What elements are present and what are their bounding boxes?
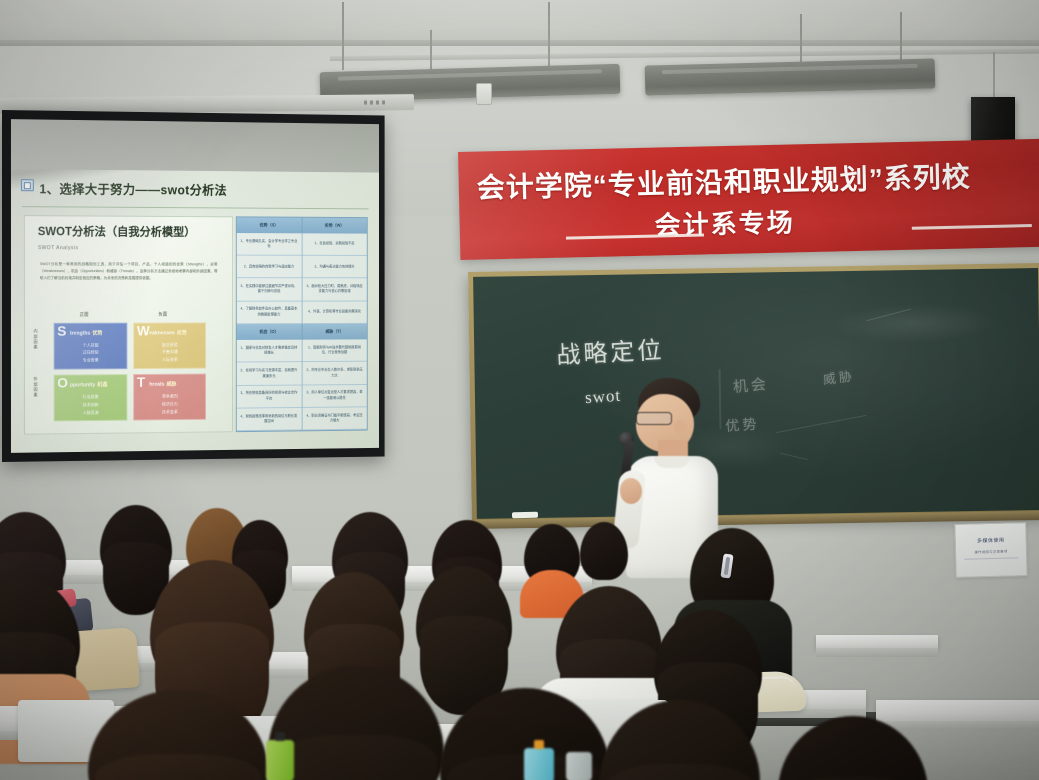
student-mid-4 bbox=[416, 566, 512, 674]
list-item: 人脉资源 bbox=[54, 408, 128, 417]
table-row: 1、社会经验、实践经验不足 bbox=[302, 233, 366, 256]
wall-notice: 多媒体使用 操作说明与注意事项 bbox=[954, 522, 1027, 578]
quadrant-label-opportunity: pportunity机遇 bbox=[70, 381, 107, 388]
table-row: 3、所在院校具备良好的师资与校企合作平台 bbox=[236, 385, 301, 408]
quadrant-label-strengths: trengths优势 bbox=[70, 329, 103, 336]
student-front-2 bbox=[268, 666, 444, 780]
student-hair bbox=[600, 700, 760, 780]
table-column-strengths: 1、专业基础扎实，会计学专业学之专业化 2、具有较强的自我学习与适应能力 3、在… bbox=[236, 233, 302, 324]
light-rod-right-b bbox=[900, 12, 902, 64]
table-row: 1、智能财务与AI技术替代基础核算岗位，行业竞争加剧 bbox=[302, 340, 366, 363]
blue-bottle[interactable] bbox=[524, 748, 554, 780]
slide-title: 1、选择大于努力——swot分析法 bbox=[39, 178, 227, 198]
slide-bullet-icon bbox=[21, 179, 34, 191]
swot-matrix: S trengths优势 个人技能 过往经验 专业背景 W bbox=[54, 322, 207, 421]
banner-line-2: 会计系专场 bbox=[459, 198, 990, 247]
student-back-8 bbox=[580, 522, 628, 580]
quadrant-letter-w: W bbox=[137, 323, 150, 337]
light-rod-left-c bbox=[548, 2, 550, 74]
list-item: 人际关系 bbox=[133, 356, 206, 364]
student-hair bbox=[150, 560, 274, 694]
table-row: 4、财税政策改革带来新的岗位与职业发展空间 bbox=[236, 408, 301, 431]
student-hair bbox=[268, 666, 444, 780]
quadrant-letter-t: T bbox=[137, 375, 145, 389]
list-item: 专业背景 bbox=[54, 357, 128, 365]
student-front-4 bbox=[600, 700, 760, 780]
table-row: 3、用人单位对复合型人才要求提高，单一技能难以胜任 bbox=[302, 385, 366, 408]
swot-description: SWOT分析是一种常用的战略规划工具，用于评估一个项目、产品、个人或组织的优势（… bbox=[40, 261, 218, 281]
presenter-ear bbox=[674, 420, 686, 435]
student-mid-5 bbox=[556, 586, 662, 702]
projection-screen: 1、选择大于努力——swot分析法 SWOT分析法（自我分析模型） SWOT A… bbox=[2, 110, 385, 462]
swot-quadrant-weaknesses: W eaknesses劣势 缺乏经验 不善沟通 人际关系 bbox=[133, 322, 206, 369]
student-back-7 bbox=[524, 524, 580, 586]
swot-axis-positive: 正面 bbox=[80, 312, 89, 318]
chalk-text-strategy: 战略定位 bbox=[555, 330, 665, 370]
quadrant-letter-o: O bbox=[57, 375, 68, 389]
quadrant-cn-s: 优势 bbox=[92, 330, 102, 336]
light-rod-left-a bbox=[342, 2, 344, 70]
quadrant-cn-t: 威胁 bbox=[166, 382, 176, 388]
screen-top-band bbox=[11, 119, 379, 173]
table-header-row-2: 机会（O） 威胁（T） bbox=[236, 324, 366, 340]
swot-quadrant-opportunity: O pportunity机遇 行业前景 技术创新 人脉资源 bbox=[54, 374, 128, 422]
quadrant-label-weaknesses: eaknesses劣势 bbox=[149, 329, 186, 336]
table-column-threats: 1、智能财务与AI技术替代基础核算岗位，行业竞争加剧 2、同专业毕业生人数众多，… bbox=[302, 340, 366, 431]
table-body-1: 1、专业基础扎实，会计学专业学之专业化 2、具有较强的自我学习与适应能力 3、在… bbox=[236, 233, 366, 324]
table-column-weaknesses: 1、社会经验、实践经验不足 2、沟通与表达能力有待提升 3、面对较大压力时，易焦… bbox=[302, 233, 366, 324]
notice-divider bbox=[964, 557, 1018, 559]
table-row: 4、了解财务软件及办公软件，具备基本的数据处理能力 bbox=[236, 301, 301, 324]
chalk-text-opportunity: 机会 bbox=[732, 373, 770, 397]
event-banner: 会计学院“专业前沿和职业规划”系列校 会计系专场 bbox=[458, 138, 1039, 260]
presenter-hand bbox=[620, 478, 642, 504]
table-row: 1、专业基础扎实，会计学专业学之专业化 bbox=[236, 233, 301, 256]
chalk-text-threat: 威胁 bbox=[822, 365, 856, 388]
housing-vents-icon bbox=[364, 100, 386, 104]
table-row: 2、同专业毕业生人数众多，求职竞争压力大 bbox=[302, 362, 366, 385]
swot-axis-internal: 内部因素 bbox=[33, 329, 39, 350]
presentation-slide: 1、选择大于努力——swot分析法 SWOT分析法（自我分析模型） SWOT A… bbox=[11, 169, 379, 453]
swot-quadrant-strengths: S trengths优势 个人技能 过往经验 专业背景 bbox=[54, 322, 128, 369]
table-row: 3、在实践中能够注重细节并严谨对待，善于归纳与总结 bbox=[236, 279, 301, 302]
table-body-2: 1、国家与社会对财会人才需求稳定且持续增长 2、在线学习与实习资源丰富，自我提升… bbox=[236, 340, 366, 432]
wall-switch-plate[interactable] bbox=[476, 83, 492, 105]
swot-axis-external: 外部因素 bbox=[33, 377, 39, 398]
student-hair bbox=[88, 690, 268, 780]
speaker-mount-rod bbox=[993, 52, 995, 98]
slide-title-divider bbox=[22, 206, 368, 209]
column-header: 劣势（W） bbox=[302, 217, 366, 233]
swot-heading: SWOT分析法（自我分析模型） bbox=[38, 223, 196, 240]
quadrant-items-o: 行业前景 技术创新 人脉资源 bbox=[54, 393, 128, 417]
student-front-1 bbox=[88, 690, 268, 780]
table-header-row-1: 优势（S） 劣势（W） bbox=[236, 217, 366, 234]
quadrant-cn-o: 机遇 bbox=[97, 382, 107, 388]
quadrant-word-t: hreats bbox=[149, 382, 164, 388]
table-row: 4、职业资格证书门槛不断提高，考证压力增大 bbox=[302, 407, 366, 430]
blackboard-surface: 战略定位 swot 机会 威胁 优势 bbox=[473, 268, 1039, 519]
table-row: 1、国家与社会对财会人才需求稳定且持续增长 bbox=[236, 340, 301, 363]
notice-title: 多媒体使用 bbox=[956, 536, 1026, 545]
student-hair bbox=[778, 716, 928, 780]
quadrant-label-threats: hreats威胁 bbox=[149, 381, 176, 388]
student-hair bbox=[416, 566, 512, 674]
column-header: 机会（O） bbox=[236, 324, 302, 340]
column-header: 优势（S） bbox=[236, 217, 302, 233]
projection-screen-surface: 1、选择大于努力——swot分析法 SWOT分析法（自我分析模型） SWOT A… bbox=[11, 119, 379, 453]
quadrant-items-s: 个人技能 过往经验 专业背景 bbox=[54, 341, 128, 365]
swot-axis-negative: 负面 bbox=[158, 311, 167, 317]
quadrant-cn-w: 劣势 bbox=[177, 330, 187, 336]
table-row: 3、面对较大压力时，易焦虑，对临场应变能力与信心仍需加强 bbox=[302, 279, 366, 302]
student-front-5 bbox=[778, 716, 928, 780]
blackboard: 战略定位 swot 机会 威胁 优势 bbox=[468, 263, 1039, 524]
table-row: 2、具有较强的自我学习与适应能力 bbox=[236, 256, 301, 279]
bottle-cap-orange bbox=[534, 740, 544, 749]
table-row: 2、沟通与表达能力有待提升 bbox=[302, 256, 366, 279]
desk-right-top bbox=[816, 635, 938, 649]
table-row: 2、在线学习与实习资源丰富，自我提升渠道多元 bbox=[236, 363, 301, 386]
quadrant-letter-s: S bbox=[57, 323, 66, 337]
notice-subtitle: 操作说明与注意事项 bbox=[956, 548, 1026, 555]
quadrant-word-s: trengths bbox=[70, 330, 90, 336]
student-with-hairclip bbox=[690, 528, 774, 620]
quadrant-items-t: 竞争激烈 经济压力 技术变革 bbox=[133, 392, 206, 416]
swot-subheading: SWOT Analysis bbox=[38, 245, 79, 251]
swot-detail-table: 优势（S） 劣势（W） 1、专业基础扎实，会计学专业学之专业化 2、具有较强的自… bbox=[235, 216, 367, 432]
table-row: 4、外语、计算机等专业技能尚需深化 bbox=[302, 301, 366, 324]
student-mid-1 bbox=[0, 578, 80, 696]
clear-bottle[interactable] bbox=[566, 752, 592, 780]
classroom-lecture-photo: 1、选择大于努力——swot分析法 SWOT分析法（自我分析模型） SWOT A… bbox=[0, 0, 1039, 780]
quadrant-word-w: eaknesses bbox=[149, 330, 175, 336]
student-mid-2 bbox=[150, 560, 274, 694]
quadrant-items-w: 缺乏经验 不善沟通 人际关系 bbox=[133, 341, 206, 365]
swot-card: SWOT分析法（自我分析模型） SWOT Analysis SWOT分析是一种常… bbox=[24, 215, 232, 435]
green-bottle[interactable] bbox=[266, 740, 294, 780]
quadrant-word-o: pportunity bbox=[70, 382, 95, 388]
table-column-opportunity: 1、国家与社会对财会人才需求稳定且持续增长 2、在线学习与实习资源丰富，自我提升… bbox=[236, 340, 302, 431]
bottle-cap-dark bbox=[275, 732, 285, 741]
list-item: 技术变革 bbox=[133, 408, 206, 417]
chalk-stick bbox=[512, 512, 538, 518]
column-header: 威胁（T） bbox=[302, 324, 366, 340]
swot-quadrant-threats: T hreats威胁 竞争激烈 经济压力 技术变革 bbox=[133, 373, 206, 420]
glasses-icon bbox=[636, 412, 672, 425]
student-hair bbox=[580, 522, 628, 580]
